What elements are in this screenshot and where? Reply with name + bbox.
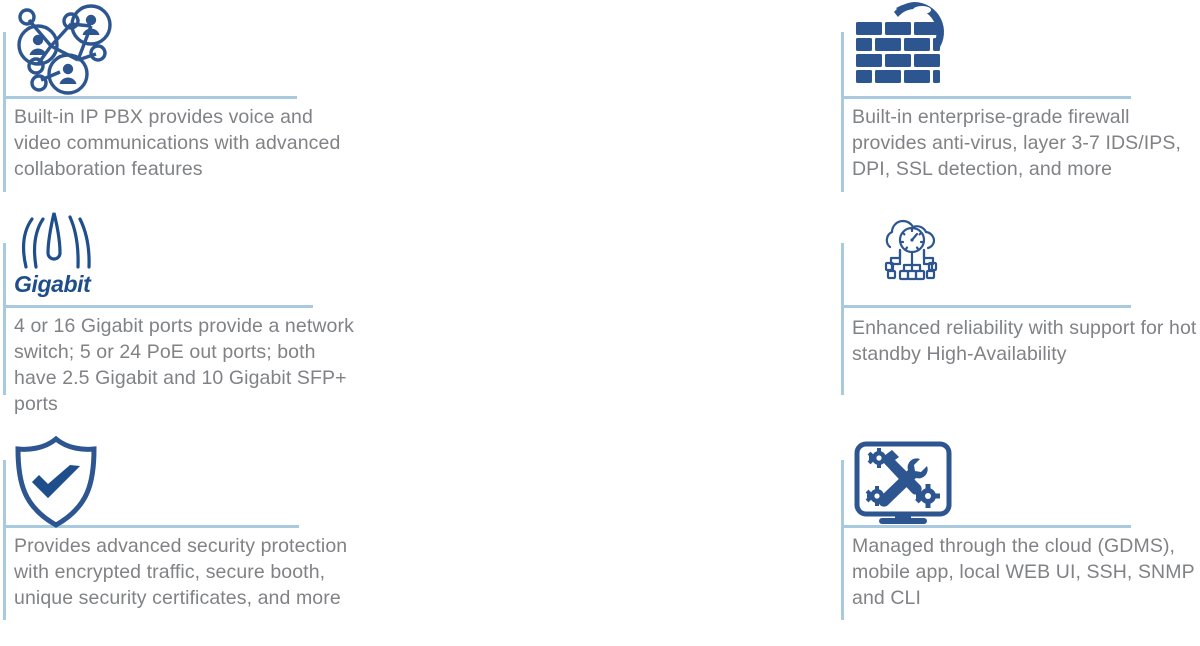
feature-card-vpn-router: Built-in VPN router supports 6.5Gbps or …: [840, 0, 1200, 205]
accent-horizontal-rule: [3, 305, 313, 308]
accent-vertical-rule: [3, 460, 6, 620]
shield-check-icon-wrap: [12, 435, 100, 529]
feature-description: Built-in IP PBX provides voice and video…: [14, 104, 354, 182]
feature-card-security: Provides advanced security protection wi…: [0, 435, 420, 646]
feature-grid: Built-in IP PBX provides voice and video…: [0, 0, 1200, 646]
network-people-icon-wrap: [8, 2, 116, 96]
accent-vertical-rule: [3, 243, 6, 395]
feature-card-gigabit-ports: Gigabit 4 or 16 Gigabit ports provide a …: [0, 205, 420, 435]
gigabit-logo-icon: [12, 209, 104, 271]
shield-check-icon: [12, 435, 100, 529]
feature-card-high-availability: Enhanced reliability with support for ho…: [420, 205, 840, 435]
accent-horizontal-rule: [3, 96, 297, 99]
feature-card-central-management: Easily configure, deploy, and manage all…: [840, 205, 1200, 435]
feature-description: 4 or 16 Gigabit ports provide a network …: [14, 313, 354, 417]
gigabit-logo-icon-wrap: Gigabit: [12, 209, 104, 296]
network-people-icon: [8, 2, 116, 96]
feature-card-multi-wan: Multi WAN Multiple WAN ports with load b…: [840, 435, 1200, 646]
gigabit-label: Gigabit: [14, 273, 90, 296]
feature-card-management-interfaces: Managed through the cloud (GDMS), mobile…: [420, 435, 840, 646]
feature-card-firewall: Built-in enterprise-grade firewall provi…: [420, 0, 840, 205]
accent-vertical-rule: [3, 32, 6, 192]
feature-description: Provides advanced security protection wi…: [14, 533, 354, 611]
feature-card-ip-pbx: Built-in IP PBX provides voice and video…: [0, 0, 420, 205]
